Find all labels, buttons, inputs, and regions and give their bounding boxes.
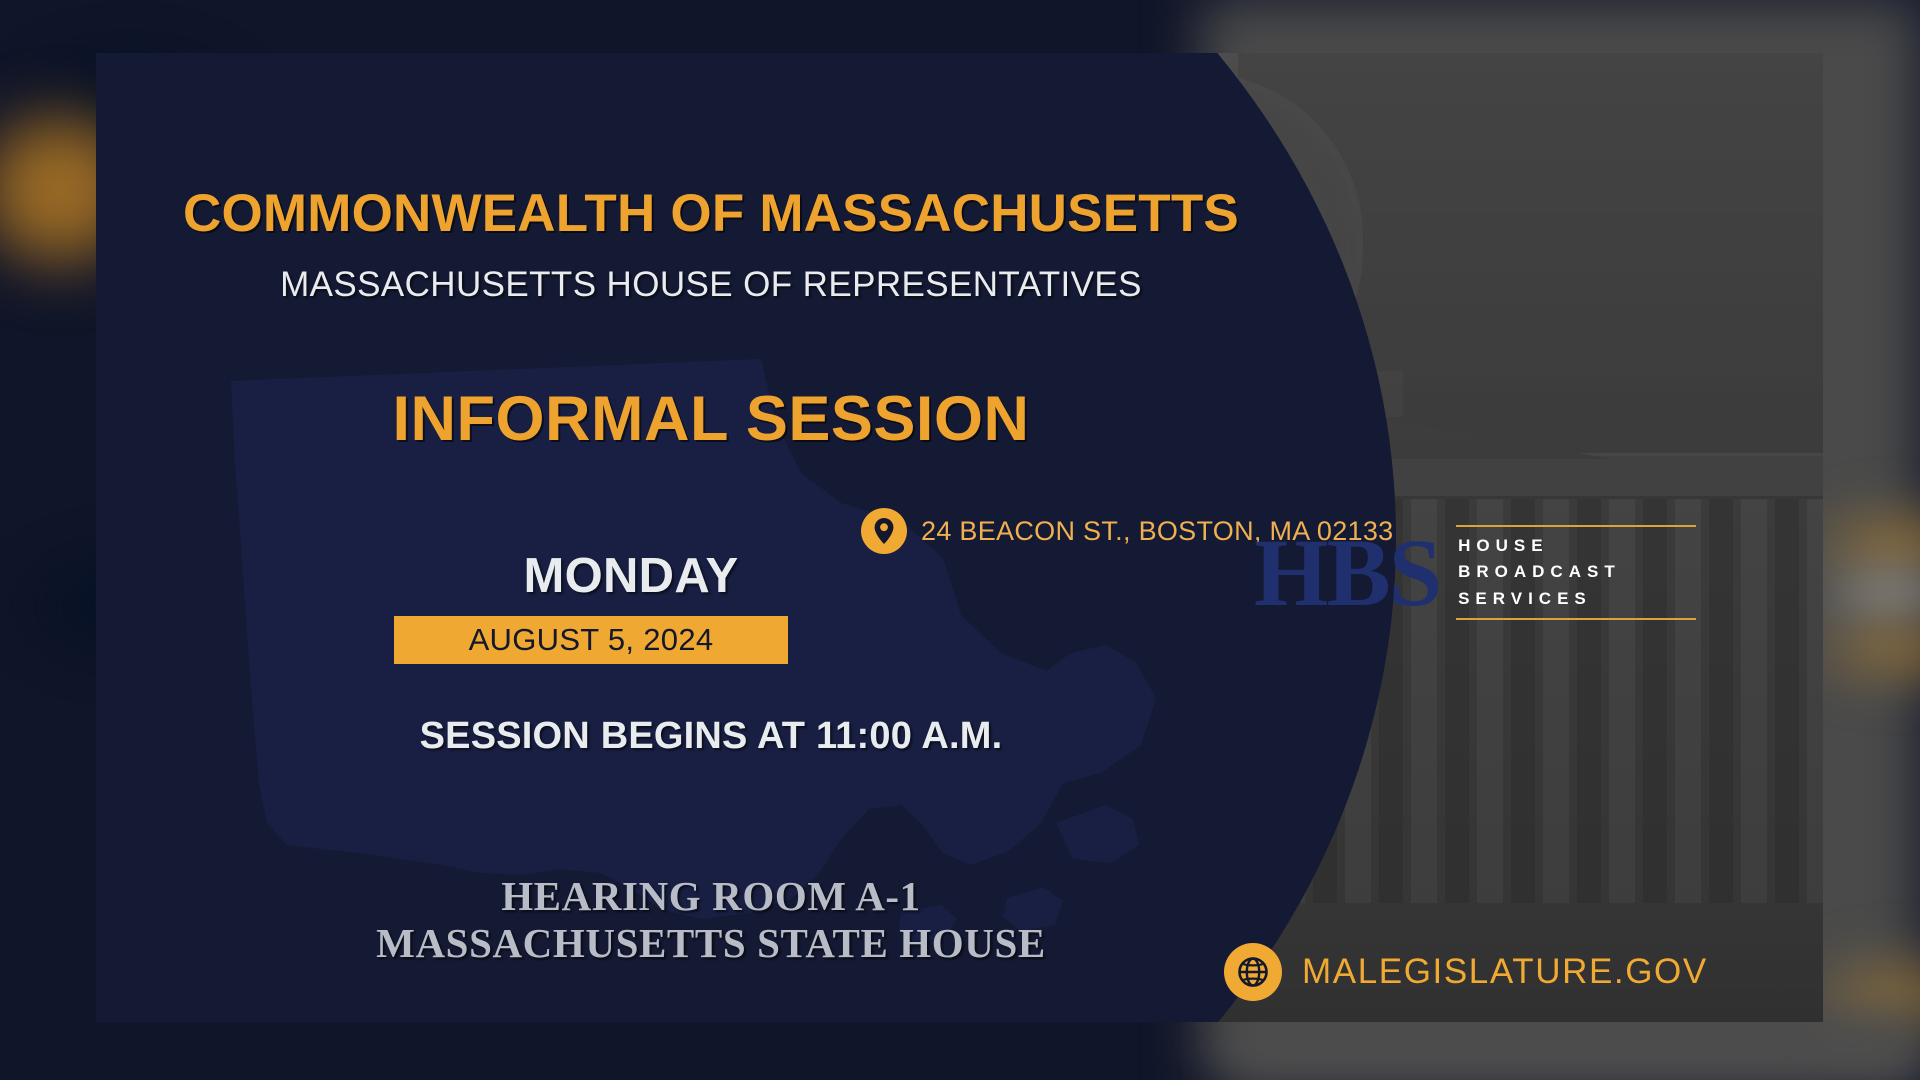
page-title: COMMONWEALTH OF MASSACHUSETTS bbox=[131, 183, 1291, 244]
day-of-week: MONDAY bbox=[476, 548, 786, 604]
map-pin-icon bbox=[861, 508, 907, 554]
date-text: AUGUST 5, 2024 bbox=[469, 622, 714, 658]
session-slate: COMMONWEALTH OF MASSACHUSETTS MASSACHUSE… bbox=[96, 53, 1823, 1022]
hbs-logo: HBS HOUSE BROADCAST SERVICES bbox=[1254, 525, 1696, 620]
session-type-heading: INFORMAL SESSION bbox=[131, 383, 1291, 455]
website-url[interactable]: MALEGISLATURE.GOV bbox=[1302, 952, 1708, 992]
hbs-wordmark: HOUSE BROADCAST SERVICES bbox=[1456, 525, 1696, 620]
location-block: HEARING ROOM A-1 MASSACHUSETTS STATE HOU… bbox=[131, 873, 1291, 967]
hbs-monogram: HBS bbox=[1254, 527, 1440, 618]
backdrop-blur-blob bbox=[1230, 1020, 1920, 1080]
hearing-room-line: HEARING ROOM A-1 bbox=[131, 873, 1291, 920]
building-line: MASSACHUSETTS STATE HOUSE bbox=[131, 920, 1291, 967]
chamber-subtitle: MASSACHUSETTS HOUSE OF REPRESENTATIVES bbox=[131, 265, 1291, 305]
hbs-word-broadcast: BROADCAST bbox=[1456, 559, 1696, 585]
globe-icon bbox=[1224, 943, 1282, 1001]
hbs-word-house: HOUSE bbox=[1456, 533, 1696, 559]
hbs-word-services: SERVICES bbox=[1456, 586, 1696, 612]
date-banner: AUGUST 5, 2024 bbox=[394, 616, 788, 664]
website-row[interactable]: MALEGISLATURE.GOV bbox=[1224, 943, 1708, 1001]
slate-content: COMMONWEALTH OF MASSACHUSETTS MASSACHUSE… bbox=[96, 53, 1823, 1022]
session-start-time: SESSION BEGINS AT 11:00 A.M. bbox=[131, 715, 1291, 758]
